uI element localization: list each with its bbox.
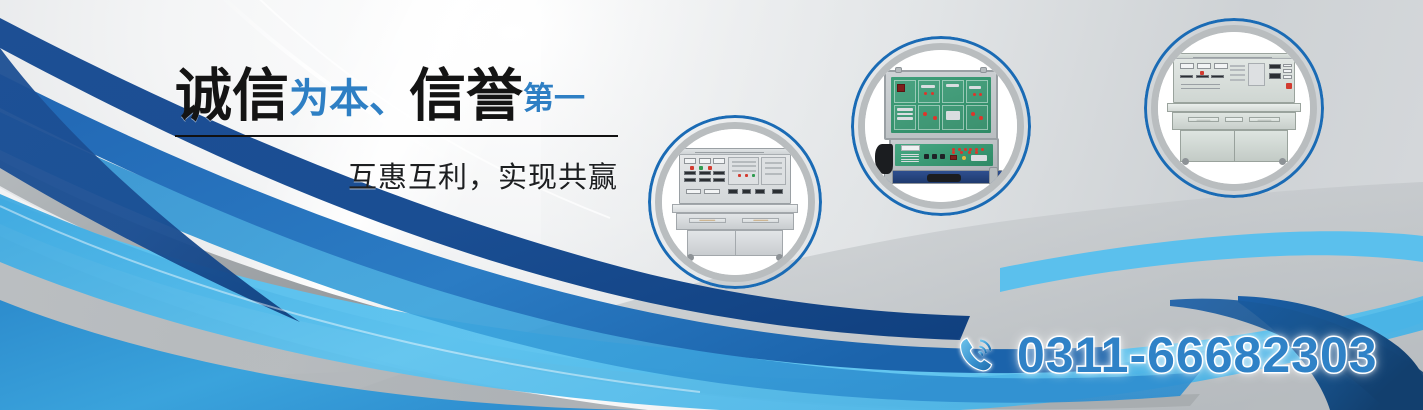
product-photo-1 [662,129,808,275]
circle-3-inner-ring [1151,25,1317,191]
product-photo-2 [865,50,1017,202]
product-circle-2[interactable] [851,36,1031,216]
product-photo-3 [1158,32,1310,184]
product-circle-3[interactable] [1144,18,1324,198]
circle-2-inner-ring [858,43,1024,209]
phone-number[interactable]: 0311-66682303 [1017,326,1378,384]
headline-part-2: 为本 [289,77,369,121]
promo-banner: 诚信为本、信誉第一 互惠互利，实现共赢 [0,0,1423,410]
subtitle: 互惠互利，实现共赢 [175,154,618,196]
circle-1-inner-ring [655,122,815,282]
headline-part-1: 诚信 [175,64,289,128]
product-circle-1[interactable] [648,115,822,289]
contact-block[interactable]: 0311-66682303 [955,326,1378,384]
phone-call-icon [955,332,1001,378]
headline: 诚信为本、信誉第一 [175,68,625,125]
headline-part-3: 、 [369,77,409,121]
headline-part-5: 第一 [523,81,585,116]
headline-part-4: 信誉 [409,64,523,128]
headline-block: 诚信为本、信誉第一 互惠互利，实现共赢 [175,68,625,196]
headline-divider [175,135,618,137]
